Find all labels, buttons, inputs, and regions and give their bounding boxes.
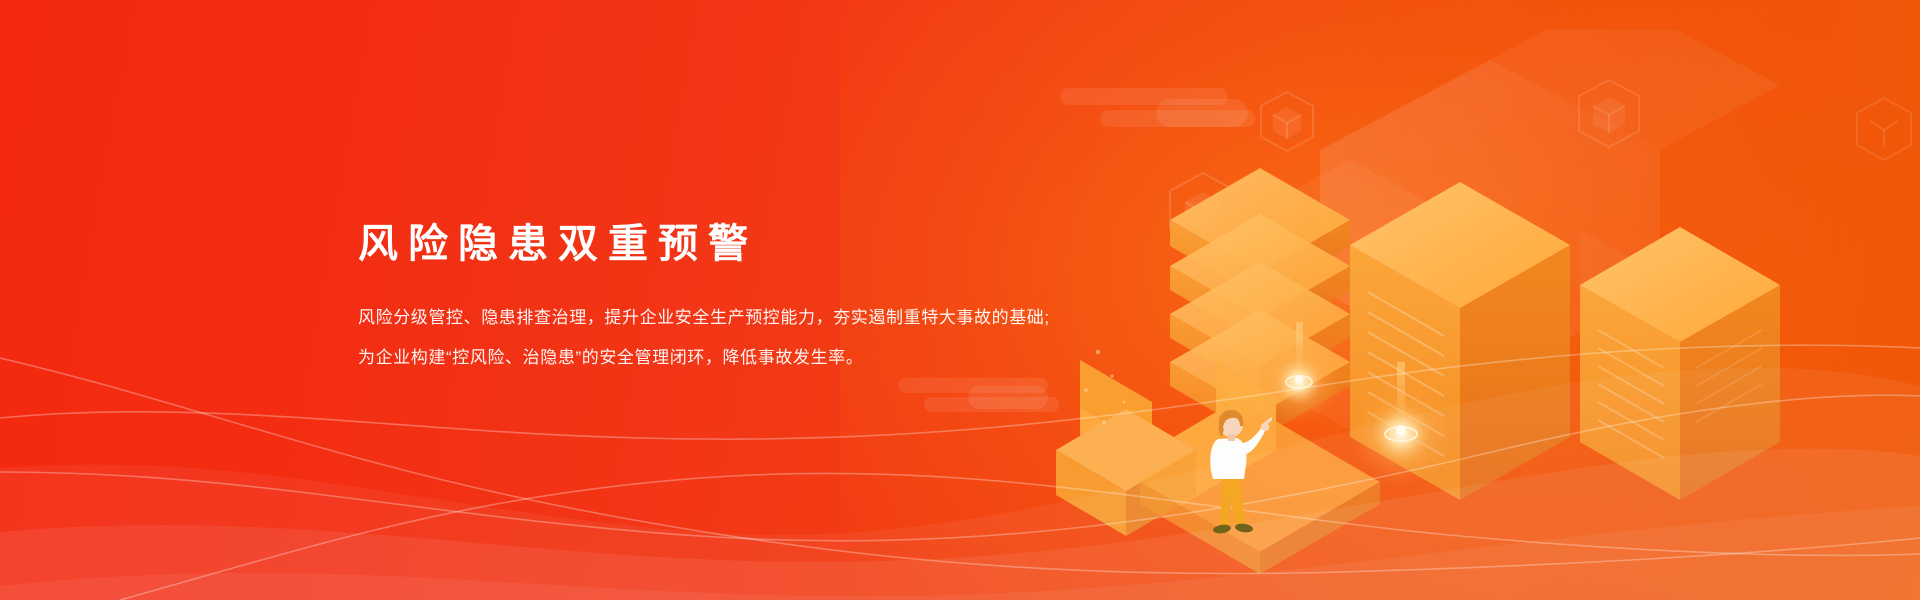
person-pointing-illustration bbox=[1200, 405, 1272, 545]
ghost-prisms bbox=[1220, 30, 1780, 430]
tower-center bbox=[1350, 182, 1570, 500]
glow-points bbox=[1257, 322, 1453, 486]
page-title: 风险隐患双重预警 bbox=[358, 218, 1178, 270]
subtitle-line-1: 风险分级管控、隐患排查治理，提升企业安全生产预控能力，夯实遏制重特大事故的基础; bbox=[358, 298, 1178, 338]
hexagon-cube-icon bbox=[1258, 90, 1316, 154]
cloud-bar bbox=[1100, 110, 1255, 127]
cloud-decoration-top bbox=[1060, 88, 1310, 150]
hero-copy: 风险隐患双重预警 风险分级管控、隐患排查治理，提升企业安全生产预控能力，夯实遏制… bbox=[358, 218, 1178, 378]
cloud-bar bbox=[924, 397, 1059, 412]
foreground-cube bbox=[1056, 409, 1196, 536]
cloud-bar bbox=[968, 386, 1048, 409]
cloud-decoration-bottom bbox=[898, 378, 1098, 428]
cloud-bar bbox=[898, 378, 1048, 393]
subtitle-line-2: 为企业构建“控风险、治隐患”的安全管理闭环，降低事故发生率。 bbox=[358, 338, 1178, 378]
cloud-bar bbox=[1060, 88, 1228, 105]
hexagon-cube-icon bbox=[1576, 78, 1642, 150]
hexagon-cube-icon bbox=[1854, 96, 1914, 162]
tower-right bbox=[1580, 227, 1780, 500]
hero-subtitle: 风险分级管控、隐患排查治理，提升企业安全生产预控能力，夯实遏制重特大事故的基础;… bbox=[358, 270, 1178, 378]
cloud-bar bbox=[1156, 99, 1248, 127]
stacked-slabs bbox=[1170, 168, 1350, 438]
hero-banner: 风险隐患双重预警 风险分级管控、隐患排查治理，提升企业安全生产预控能力，夯实遏制… bbox=[0, 0, 1920, 600]
